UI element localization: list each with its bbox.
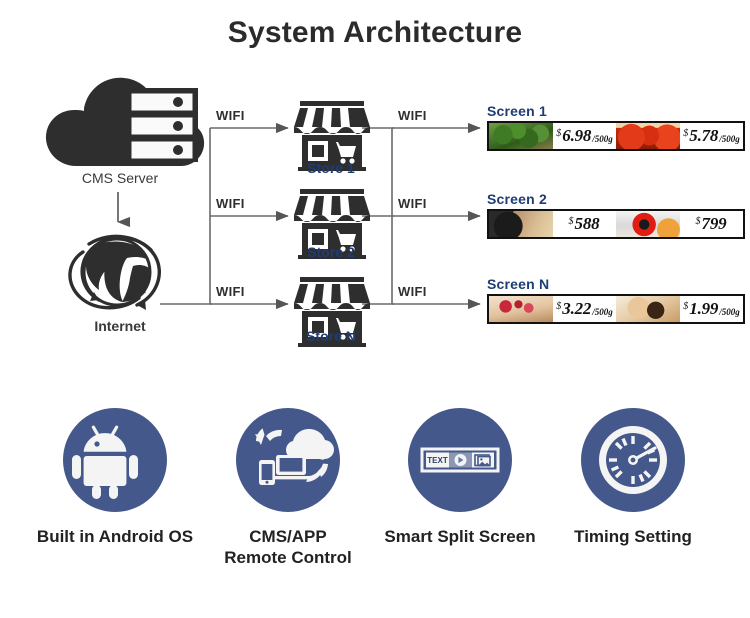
price-unit: /500g (592, 134, 613, 144)
price-value: 588 (575, 214, 600, 234)
screen-n-price-2: $1.99/500g (680, 296, 743, 322)
screen-2-price-1: $588 (553, 211, 616, 237)
internet-label: Internet (35, 318, 205, 334)
price-value: 5.78 (689, 126, 718, 146)
feature-timing: Timing Setting (543, 408, 723, 547)
feature-split-screen-label: Smart Split Screen (370, 526, 550, 547)
screen-1-price-2: $5.78/500g (680, 123, 743, 149)
split-screen-icon: TEXT (408, 408, 512, 512)
feature-cms-app-circle (236, 408, 340, 512)
screen-1-price-1: $6.98/500g (553, 123, 616, 149)
wifi-label-right-3: WIFI (398, 284, 427, 299)
feature-split-screen-circle: TEXT (408, 408, 512, 512)
feature-split-screen: TEXT Smart Split Screen (370, 408, 550, 547)
currency-symbol: $ (683, 128, 688, 139)
diagram-canvas: System Architecture (0, 0, 750, 618)
currency-symbol: $ (556, 128, 561, 139)
price-value: 3.22 (562, 299, 591, 319)
screen-2-bar: $588 $799 (487, 209, 745, 239)
cms-server-label: CMS Server (30, 170, 210, 186)
screen-1-product-image-1 (489, 123, 553, 149)
wifi-label-right-1: WIFI (398, 108, 427, 123)
currency-symbol: $ (569, 216, 574, 227)
wifi-label-left-1: WIFI (216, 108, 245, 123)
wifi-label-left-2: WIFI (216, 196, 245, 211)
feature-cms-app-label: CMS/APP Remote Control (198, 526, 378, 569)
currency-symbol: $ (696, 216, 701, 227)
currency-symbol: $ (556, 301, 561, 312)
screen-n-product-image-2 (616, 296, 680, 322)
feature-timing-circle (581, 408, 685, 512)
price-value: 1.99 (689, 299, 718, 319)
split-screen-text-chip: TEXT (427, 456, 448, 465)
wifi-label-right-2: WIFI (398, 196, 427, 211)
globe-network-icon (55, 222, 185, 322)
screen-2-product-image-2 (616, 211, 680, 237)
feature-android-circle (63, 408, 167, 512)
timer-clock-icon (581, 408, 685, 512)
screen-2-price-2: $799 (680, 211, 743, 237)
screen-1-product-image-2 (616, 123, 680, 149)
store-2-label: Store 2 (276, 244, 386, 260)
price-unit: /500g (592, 307, 613, 317)
store-1-label: Store 1 (276, 160, 386, 176)
feature-cms-app-label-line1: CMS/APP (249, 527, 326, 546)
cloud-sync-devices-icon (236, 408, 340, 512)
feature-android: Built in Android OS (25, 408, 205, 547)
screen-1-bar: $6.98/500g $5.78/500g (487, 121, 745, 151)
price-unit: /500g (719, 307, 740, 317)
screen-2-title: Screen 2 (487, 191, 547, 207)
wifi-label-left-3: WIFI (216, 284, 245, 299)
screen-2-product-image-1 (489, 211, 553, 237)
feature-cms-app: CMS/APP Remote Control (198, 408, 378, 569)
screen-n-bar: $3.22/500g $1.99/500g (487, 294, 745, 324)
feature-android-label: Built in Android OS (25, 526, 205, 547)
price-value: 799 (702, 214, 727, 234)
feature-timing-label: Timing Setting (543, 526, 723, 547)
screen-1-title: Screen 1 (487, 103, 547, 119)
price-value: 6.98 (562, 126, 591, 146)
feature-cms-app-label-line2: Remote Control (224, 548, 352, 567)
screen-n-product-image-1 (489, 296, 553, 322)
price-unit: /500g (719, 134, 740, 144)
screen-n-title: Screen N (487, 276, 549, 292)
android-robot-icon (63, 408, 167, 512)
currency-symbol: $ (683, 301, 688, 312)
store-n-label: Store N (276, 328, 386, 344)
screen-n-price-1: $3.22/500g (553, 296, 616, 322)
